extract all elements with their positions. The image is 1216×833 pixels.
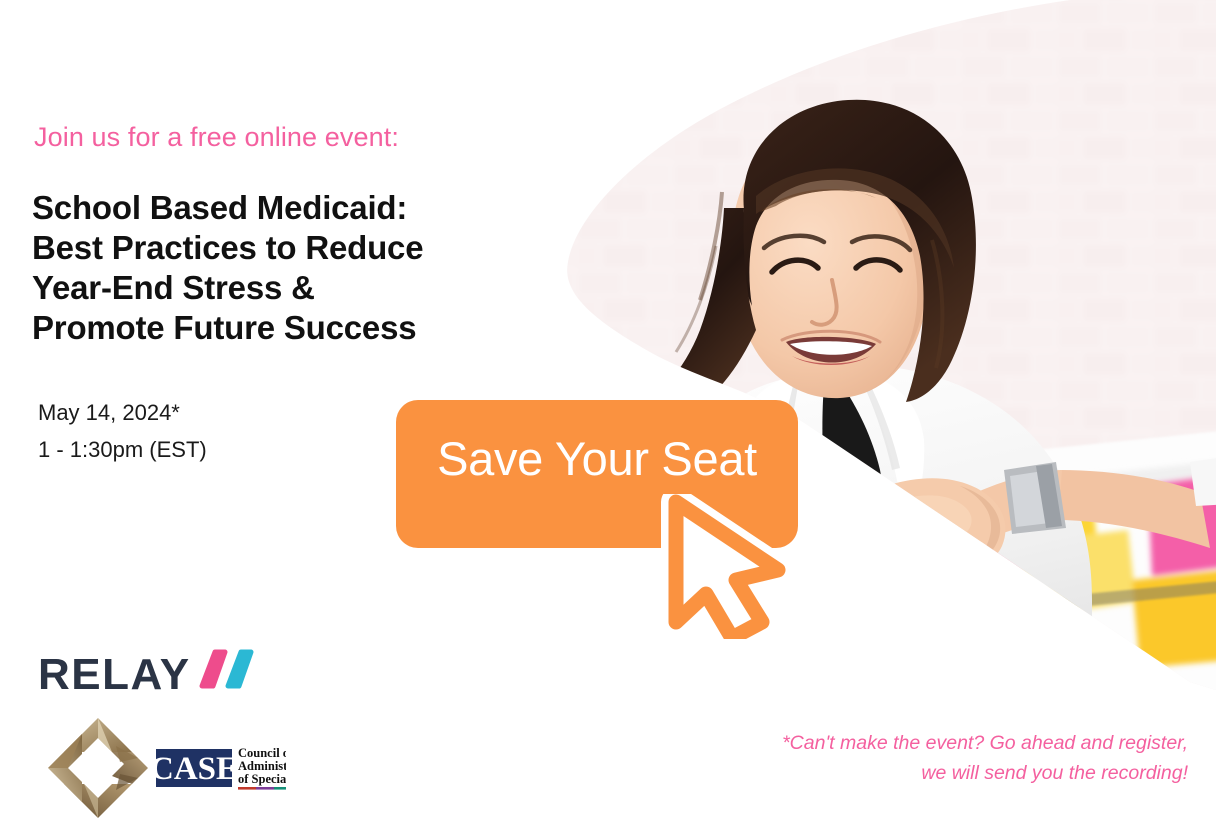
footnote-text: *Can't make the event? Go ahead and regi…: [568, 728, 1188, 788]
cta-label: Save Your Seat: [437, 435, 757, 482]
relay-wordmark: RELAY: [38, 653, 191, 697]
headline-line-3: Year-End Stress &: [32, 268, 423, 308]
case-tagline-line-3: of Special Education: [238, 772, 286, 786]
case-acronym: CASE: [150, 751, 238, 787]
case-tagline-line-1: Council of: [238, 746, 286, 760]
event-datetime: May 14, 2024* 1 - 1:30pm (EST): [38, 394, 207, 468]
relay-slash-marks-icon: [199, 648, 257, 690]
case-tagline-line-2: Administrators: [238, 759, 286, 773]
case-logo: CASE Council of Administrators of Specia…: [46, 716, 286, 821]
case-diamond-emblem: [48, 718, 148, 818]
eyebrow-text: Join us for a free online event:: [34, 120, 399, 154]
relay-logo: RELAY: [38, 645, 268, 705]
page-title: School Based Medicaid: Best Practices to…: [32, 188, 423, 348]
event-time: 1 - 1:30pm (EST): [38, 431, 207, 468]
footnote-line-1: *Can't make the event? Go ahead and regi…: [568, 728, 1188, 758]
headline-line-2: Best Practices to Reduce: [32, 228, 423, 268]
event-date: May 14, 2024*: [38, 394, 207, 431]
footnote-line-2: we will send you the recording!: [568, 758, 1188, 788]
promo-canvas: Join us for a free online event: School …: [0, 0, 1216, 833]
save-your-seat-button[interactable]: Save Your Seat: [396, 400, 798, 548]
headline-line-4: Promote Future Success: [32, 308, 423, 348]
case-rule: [238, 787, 286, 790]
headline-line-1: School Based Medicaid:: [32, 188, 423, 228]
